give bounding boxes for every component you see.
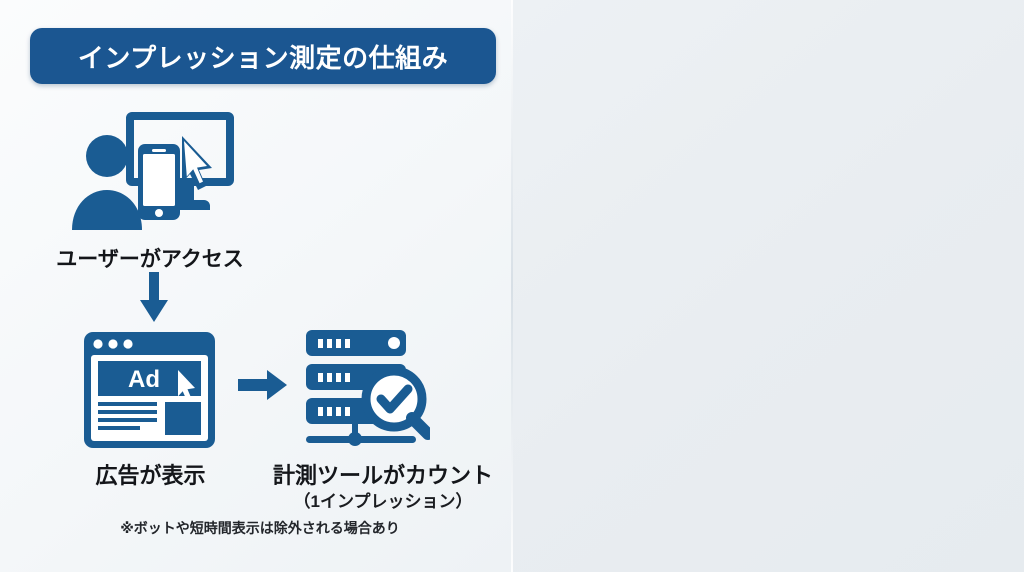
right-panel: CPM（インプレッション単価）の計算: [512, 0, 1024, 572]
step-label-tool-count: 計測ツールがカウント: [258, 458, 508, 490]
step-sublabel-one-impression: （1インプレッション）: [258, 487, 508, 512]
left-panel: インプレッション測定の仕組み: [0, 0, 512, 572]
server-check-magnifier-icon: [302, 326, 430, 448]
left-panel-header: インプレッション測定の仕組み: [30, 28, 496, 84]
ad-browser-window-icon: Ad: [82, 330, 217, 450]
infographic-canvas: インプレッション測定の仕組み: [0, 0, 1024, 572]
user-device-access-icon: [70, 108, 250, 233]
step-label-ad-shown: 広告が表示: [38, 458, 263, 490]
left-panel-note: ※ボットや短時間表示は除外される場合あり: [60, 518, 460, 538]
panel-divider: [511, 0, 513, 572]
arrow-right-icon: [238, 368, 288, 402]
step-label-user-access: ユーザーがアクセス: [0, 243, 300, 273]
arrow-down-icon: [138, 272, 170, 324]
svg-text:Ad: Ad: [128, 366, 160, 393]
